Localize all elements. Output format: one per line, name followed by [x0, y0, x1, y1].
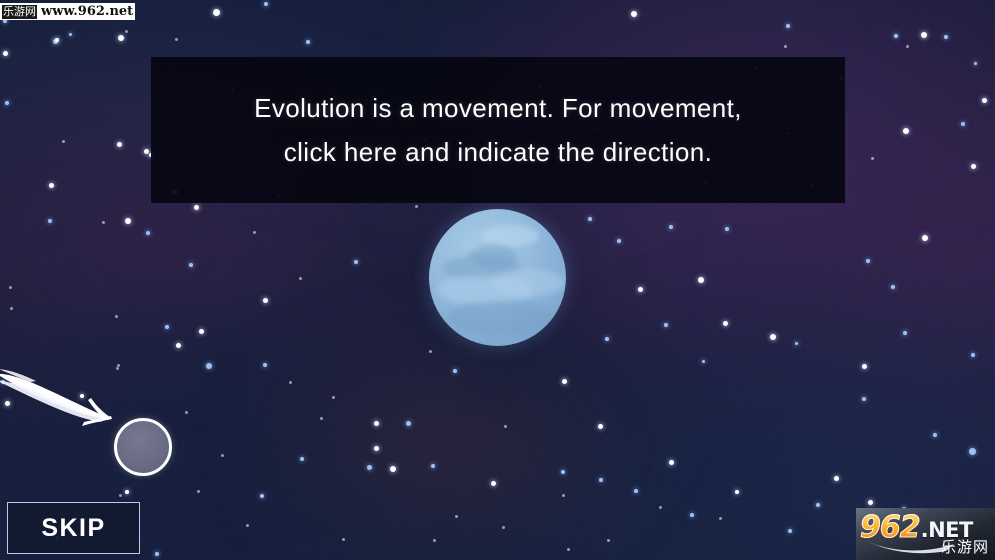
star: [735, 490, 739, 494]
star: [146, 231, 150, 235]
star: [125, 218, 131, 224]
star: [504, 425, 507, 428]
star: [221, 454, 224, 457]
star: [263, 363, 267, 367]
star: [431, 464, 435, 468]
star: [834, 476, 839, 481]
star: [125, 30, 128, 33]
star: [264, 2, 268, 6]
star: [102, 221, 105, 224]
star: [125, 490, 129, 494]
star: [320, 417, 323, 420]
star: [176, 343, 181, 348]
tutorial-message-panel: Evolution is a movement. For movement, c…: [151, 57, 845, 203]
star: [944, 35, 948, 39]
star: [299, 277, 302, 280]
star: [263, 298, 268, 303]
star: [922, 235, 928, 241]
hand-drawn-arrow-icon: [0, 366, 126, 428]
star: [723, 321, 728, 326]
star: [253, 231, 256, 234]
star: [903, 128, 909, 134]
star: [3, 51, 8, 56]
star: [868, 500, 873, 505]
star: [69, 33, 72, 36]
player-cell[interactable]: [114, 418, 172, 476]
star: [561, 470, 565, 474]
star: [367, 465, 372, 470]
star: [725, 227, 729, 231]
skip-button-label: SKIP: [41, 514, 105, 543]
star: [982, 98, 987, 103]
star: [213, 9, 220, 16]
site-logo-badge: 962 .NET 乐游网: [856, 508, 995, 560]
star: [429, 350, 432, 353]
star: [862, 364, 867, 369]
star: [175, 38, 178, 41]
star: [260, 494, 264, 498]
planet-cloud: [481, 225, 539, 247]
star: [117, 142, 122, 147]
nebula-blush-center: [250, 330, 650, 560]
star: [155, 552, 159, 556]
star: [415, 205, 418, 208]
star: [194, 205, 199, 210]
star: [698, 277, 704, 283]
star: [144, 149, 149, 154]
tutorial-text-line-1: Evolution is a movement. For movement,: [254, 86, 742, 130]
star: [786, 24, 790, 28]
star: [332, 396, 335, 399]
star: [607, 539, 610, 542]
star: [48, 219, 52, 223]
planet-cloud: [447, 301, 555, 335]
star: [562, 379, 567, 384]
star: [891, 285, 895, 289]
star: [605, 337, 609, 341]
star: [49, 183, 54, 188]
star: [165, 325, 169, 329]
star: [374, 421, 379, 426]
star: [455, 515, 458, 518]
watermark-banner: 乐游网 www.962.net: [0, 3, 135, 20]
star: [185, 411, 188, 414]
star: [599, 478, 603, 482]
star: [638, 287, 643, 292]
star: [690, 513, 694, 517]
star: [770, 334, 776, 340]
star: [406, 421, 411, 426]
star: [10, 307, 13, 310]
star: [62, 140, 65, 143]
star: [197, 490, 200, 493]
star: [903, 331, 907, 335]
star: [669, 225, 673, 229]
star: [342, 538, 345, 541]
star: [390, 466, 396, 472]
logo-site-name-cn: 乐游网: [941, 536, 989, 557]
star: [795, 342, 798, 345]
star: [816, 503, 820, 507]
star: [974, 62, 977, 65]
star: [631, 11, 637, 17]
star: [306, 40, 310, 44]
star: [906, 45, 909, 48]
star: [669, 460, 674, 465]
star: [119, 494, 122, 497]
star: [971, 164, 976, 169]
star: [491, 481, 496, 486]
star: [634, 489, 638, 493]
star: [921, 32, 927, 38]
star: [664, 323, 668, 327]
star: [866, 259, 870, 263]
star: [433, 539, 436, 542]
star: [118, 35, 124, 41]
star: [354, 260, 358, 264]
star: [933, 433, 937, 437]
tutorial-text-line-2: click here and indicate the direction.: [284, 130, 713, 174]
blue-cloud-planet[interactable]: [429, 209, 566, 346]
star: [871, 157, 874, 160]
watermark-url: www.962.net: [41, 4, 133, 19]
watermark-site-name: 乐游网: [2, 5, 37, 19]
star: [894, 34, 898, 38]
star: [5, 101, 9, 105]
star: [289, 381, 292, 384]
star: [502, 526, 505, 529]
star: [115, 315, 118, 318]
star: [199, 329, 204, 334]
planet-cloud: [491, 269, 565, 297]
star: [567, 548, 570, 551]
star: [598, 424, 603, 429]
star: [719, 517, 722, 520]
star: [206, 363, 212, 369]
star: [300, 457, 304, 461]
star: [55, 38, 59, 42]
star: [453, 369, 457, 373]
star: [374, 446, 379, 451]
star: [659, 506, 662, 509]
star: [961, 122, 965, 126]
star: [862, 397, 866, 401]
star: [617, 239, 621, 243]
star: [588, 217, 592, 221]
star: [788, 529, 792, 533]
star: [189, 263, 193, 267]
star: [971, 353, 975, 357]
star: [246, 524, 249, 527]
star: [562, 494, 565, 497]
star: [702, 360, 705, 363]
star: [9, 286, 12, 289]
skip-button[interactable]: SKIP: [7, 502, 140, 554]
star: [784, 45, 787, 48]
game-screen: Evolution is a movement. For movement, c…: [0, 0, 995, 560]
star: [969, 448, 976, 455]
